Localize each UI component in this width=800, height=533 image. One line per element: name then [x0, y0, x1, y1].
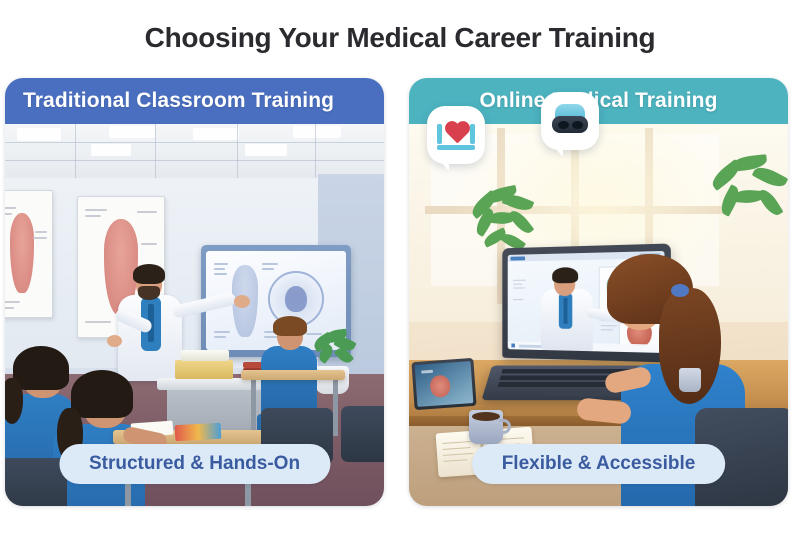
ceiling	[5, 124, 384, 178]
heart-icon	[444, 122, 470, 146]
book-stack-white	[181, 350, 229, 361]
online-scene	[409, 78, 788, 506]
heart-monitor-badge	[427, 106, 485, 164]
held-coffee-mug	[679, 368, 701, 392]
banner-traditional: Traditional Classroom Training	[5, 78, 384, 124]
classroom-chair-left	[5, 458, 67, 506]
vr-headset-badge	[541, 92, 599, 150]
colored-chart	[175, 423, 222, 441]
vr-headset-icon	[541, 92, 599, 150]
student-desk-right	[241, 370, 345, 380]
caption-structured-hands-on[interactable]: Structured & Hands-On	[59, 444, 330, 484]
panel-traditional-classroom[interactable]: Traditional Classroom Training Structure…	[5, 78, 384, 506]
classroom-scene	[5, 78, 384, 506]
hair-tie	[671, 284, 689, 297]
tablet-screen	[415, 361, 474, 407]
page-title: Choosing Your Medical Career Training	[0, 22, 800, 54]
panel-online-training[interactable]: Online Medical Training Flexible & Acces…	[409, 78, 788, 506]
tablet-device[interactable]	[411, 358, 476, 410]
instructor-pointing-hand	[234, 295, 250, 308]
anatomy-poster-left	[5, 190, 53, 318]
classroom-chair-right	[341, 406, 384, 462]
coffee-mug-desk	[469, 410, 503, 444]
banner-traditional-label: Traditional Classroom Training	[23, 89, 334, 113]
book-stack-yellow	[175, 360, 233, 379]
caption-flexible-accessible[interactable]: Flexible & Accessible	[472, 444, 726, 484]
